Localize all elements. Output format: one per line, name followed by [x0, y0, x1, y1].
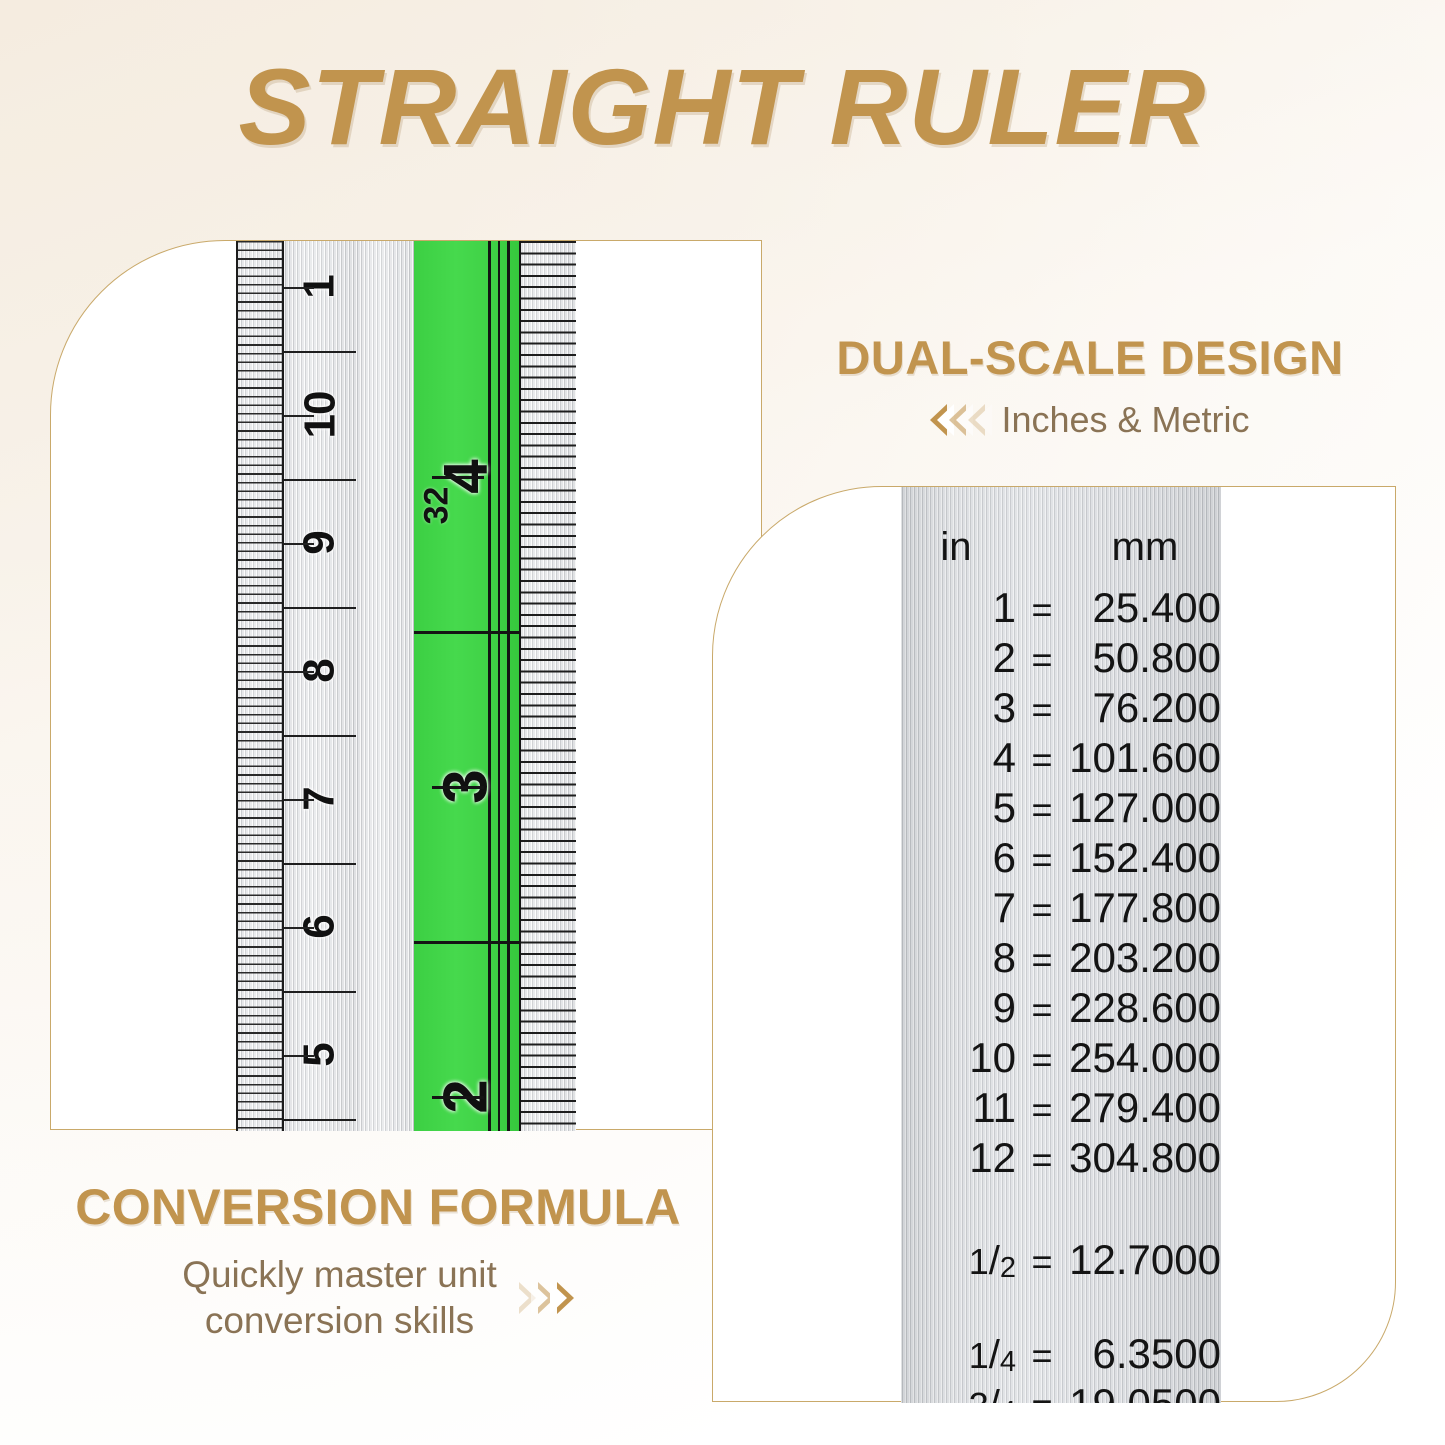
conversion-row-mm: 6.3500 — [1068, 1333, 1221, 1375]
conversion-row-inches: 1/2 — [901, 1239, 1016, 1283]
conversion-row-whole: 3=76.200 — [901, 687, 1221, 729]
conversion-row-mm: 19.0500 — [1068, 1383, 1221, 1403]
conversion-formula-feature: CONVERSION FORMULA Quickly master unit c… — [48, 1178, 708, 1345]
conversion-row-whole: 6=152.400 — [901, 837, 1221, 879]
conversion-row-whole: 11=279.400 — [901, 1087, 1221, 1129]
conversion-formula-subtitle-line1: Quickly master unit — [182, 1254, 497, 1295]
conversion-row-whole: 8=203.200 — [901, 937, 1221, 979]
conversion-row-quarter: 3/4=19.0500 — [901, 1383, 1221, 1403]
chevron-left-icon-2 — [949, 404, 966, 436]
conversion-row-whole: 7=177.800 — [901, 887, 1221, 929]
conversion-row-whole: 4=101.600 — [901, 737, 1221, 779]
conversion-row-mm: 76.200 — [1068, 687, 1221, 729]
conversion-row-inches: 12 — [901, 1137, 1016, 1179]
conversion-row-mm: 152.400 — [1068, 837, 1221, 879]
conversion-row-equals: = — [1016, 642, 1068, 678]
conversion-table-header: in mm — [901, 525, 1221, 570]
dual-scale-heading: DUAL-SCALE DESIGN — [790, 330, 1390, 385]
conversion-row-mm: 254.000 — [1068, 1037, 1221, 1079]
conversion-row-mm: 12.7000 — [1068, 1239, 1221, 1281]
inch-strip-left-edge — [519, 241, 521, 1131]
dual-scale-feature: DUAL-SCALE DESIGN Inches & Metric — [790, 330, 1390, 441]
conversion-formula-subtitle-row: Quickly master unit conversion skills — [48, 1252, 708, 1345]
conversion-formula-heading: CONVERSION FORMULA — [48, 1178, 708, 1236]
conversion-row-equals: = — [1016, 842, 1068, 878]
conversion-row-inches: 10 — [901, 1037, 1016, 1079]
conversion-formula-subtitle: Quickly master unit conversion skills — [182, 1252, 497, 1345]
chevron-left-group — [930, 404, 985, 436]
conversion-row-inches: 3/4 — [901, 1383, 1016, 1403]
ruler-inch-half-tick — [432, 1096, 484, 1099]
ruler-cm-half-tick — [284, 799, 314, 801]
conversion-row-whole: 10=254.000 — [901, 1037, 1221, 1079]
conversion-row-inches: 5 — [901, 787, 1016, 829]
ruler-green-small-label: 32 — [417, 487, 456, 525]
conversion-row-inches: 4 — [901, 737, 1016, 779]
chevron-right-group — [519, 1282, 574, 1314]
conversion-row-mm: 304.800 — [1068, 1137, 1221, 1179]
ruler-cm-half-tick — [284, 543, 314, 545]
conversion-row-equals: = — [1016, 992, 1068, 1028]
dual-scale-subtitle-row: Inches & Metric — [790, 399, 1390, 441]
chevron-right-icon-3 — [557, 1282, 574, 1314]
header-spacer — [1011, 525, 1069, 570]
ruler-cm-number-band: 110987654 — [284, 241, 356, 1131]
conversion-row-mm: 177.800 — [1068, 887, 1221, 929]
conversion-row-inches: 1/4 — [901, 1333, 1016, 1377]
ruler-cm-half-tick — [284, 287, 314, 289]
conversion-row-equals: = — [1016, 692, 1068, 728]
conversion-formula-subtitle-line2: conversion skills — [205, 1300, 474, 1341]
ruler-cm-cell: 4 — [284, 1119, 356, 1131]
conversion-row-whole: 12=304.800 — [901, 1137, 1221, 1179]
ruler-inch-half-tick — [432, 786, 484, 789]
conversion-row-inches: 1 — [901, 587, 1016, 629]
mm-ticks — [236, 241, 284, 1131]
conversion-row-mm: 101.600 — [1068, 737, 1221, 779]
conversion-row-inches: 6 — [901, 837, 1016, 879]
ruler-inch-tick-strip — [519, 241, 576, 1131]
conversion-row-whole: 1=25.400 — [901, 587, 1221, 629]
conversion-row-quarter: 1/4=6.3500 — [901, 1333, 1221, 1377]
conversion-row-inches: 11 — [901, 1087, 1016, 1129]
conversion-table-panel: in mm 1=25.4002=50.8003=76.2004=101.6005… — [712, 486, 1396, 1402]
column-header-mm: mm — [1069, 525, 1221, 570]
conversion-row-whole: 9=228.600 — [901, 987, 1221, 1029]
conversion-row-mm: 25.400 — [1068, 587, 1221, 629]
ruler-photo: 110987654 432132 — [236, 241, 576, 1131]
conversion-row-inches: 9 — [901, 987, 1016, 1029]
chevron-left-icon-1 — [930, 404, 947, 436]
conversion-row-equals: = — [1016, 1244, 1068, 1280]
ruler-cm-cell: 1 — [284, 241, 356, 353]
conversion-row-inches: 3 — [901, 687, 1016, 729]
conversion-row-equals: = — [1016, 942, 1068, 978]
ruler-inch-cell: 2 — [414, 941, 519, 1131]
conversion-row-equals: = — [1016, 1092, 1068, 1128]
ruler-cm-half-tick — [284, 927, 314, 929]
ruler-cm-half-tick — [284, 1055, 314, 1057]
inch-sixteenth-ticks — [519, 241, 576, 1131]
chevron-left-icon-3 — [968, 404, 985, 436]
conversion-row-equals: = — [1016, 742, 1068, 778]
conversion-row-equals: = — [1016, 1388, 1068, 1403]
page-title: STRAIGHT RULER — [0, 52, 1445, 162]
conversion-row-equals: = — [1016, 1142, 1068, 1178]
conversion-row-equals: = — [1016, 1042, 1068, 1078]
ruler-inch-half-tick — [432, 476, 484, 479]
ruler-silver-body — [356, 241, 414, 1131]
conversion-row-mm: 203.200 — [1068, 937, 1221, 979]
dual-scale-subtitle: Inches & Metric — [1001, 399, 1249, 441]
conversion-row-equals: = — [1016, 1338, 1068, 1374]
ruler-green-inch-band: 432132 — [414, 241, 519, 1131]
conversion-row-equals: = — [1016, 792, 1068, 828]
column-header-in: in — [901, 525, 1011, 570]
conversion-row-whole: 5=127.000 — [901, 787, 1221, 829]
conversion-row-mm: 127.000 — [1068, 787, 1221, 829]
ruler-mm-tick-strip — [236, 241, 284, 1131]
conversion-row-inches: 8 — [901, 937, 1016, 979]
conversion-row-whole: 2=50.800 — [901, 637, 1221, 679]
conversion-row-mm: 279.400 — [1068, 1087, 1221, 1129]
conversion-row-equals: = — [1016, 892, 1068, 928]
ruler-cm-half-tick — [284, 671, 314, 673]
conversion-row-mm: 228.600 — [1068, 987, 1221, 1029]
conversion-row-inches: 2 — [901, 637, 1016, 679]
conversion-row-inches: 7 — [901, 887, 1016, 929]
conversion-row-equals: = — [1016, 592, 1068, 628]
metal-conversion-plate: in mm 1=25.4002=50.8003=76.2004=101.6005… — [901, 487, 1221, 1403]
mm-strip-left-edge — [236, 241, 238, 1131]
conversion-row-half: 1/2=12.7000 — [901, 1239, 1221, 1283]
conversion-row-mm: 50.800 — [1068, 637, 1221, 679]
ruler-cm-half-tick — [284, 415, 314, 417]
ruler-image-panel: 110987654 432132 — [50, 240, 762, 1130]
